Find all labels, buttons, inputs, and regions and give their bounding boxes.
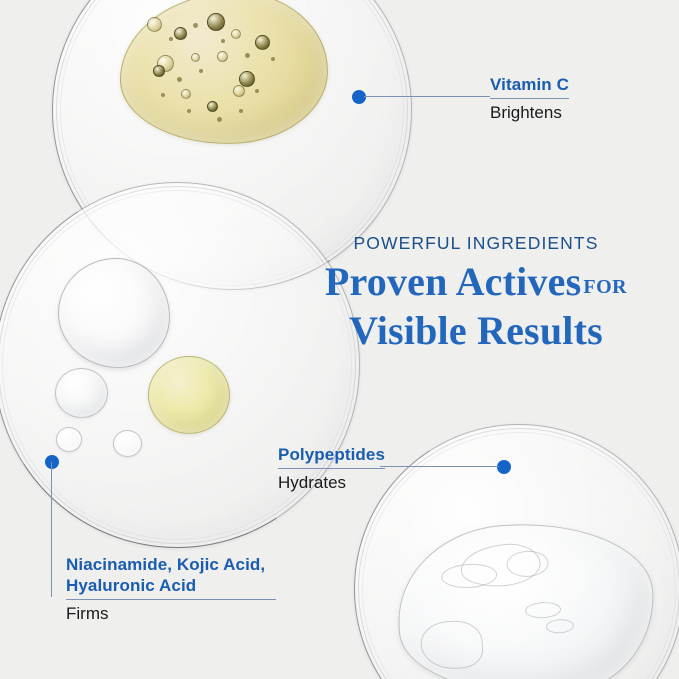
callout-subtitle-polypeptides: Hydrates xyxy=(278,472,385,494)
callout-line-polypeptides xyxy=(380,466,499,467)
callout-niacinamide[interactable]: Niacinamide, Kojic Acid, Hyaluronic Acid… xyxy=(66,554,276,625)
petri-dish-right xyxy=(354,424,679,679)
callout-line-vitamin-c xyxy=(364,96,490,97)
callout-subtitle-niacinamide: Firms xyxy=(66,603,276,625)
headline-line-1-text: Proven Actives xyxy=(325,259,581,304)
callout-dot-niacinamide[interactable] xyxy=(45,455,59,469)
callout-polypeptides[interactable]: Polypeptides Hydrates xyxy=(278,444,385,494)
ingredient-infographic: Vitamin C Brightens POWERFUL INGREDIENTS… xyxy=(0,0,679,679)
headline-for-word: FOR xyxy=(583,276,627,298)
callout-subtitle-vitamin-c: Brightens xyxy=(490,102,569,124)
headline-line-2: Visible Results xyxy=(306,309,646,353)
headline-eyebrow: POWERFUL INGREDIENTS xyxy=(306,232,646,254)
dish-shadow xyxy=(323,393,679,679)
callout-line-niacinamide xyxy=(51,462,52,597)
callout-underline xyxy=(66,599,276,600)
callout-dot-vitamin-c[interactable] xyxy=(352,90,366,104)
callout-vitamin-c[interactable]: Vitamin C Brightens xyxy=(490,74,569,124)
dish-inner-rim-secondary xyxy=(362,432,676,679)
callout-underline xyxy=(490,98,569,99)
callout-title-vitamin-c: Vitamin C xyxy=(490,74,569,95)
callout-underline xyxy=(278,468,385,469)
callout-dot-polypeptides[interactable] xyxy=(497,460,511,474)
callout-title-niacinamide: Niacinamide, Kojic Acid, Hyaluronic Acid xyxy=(66,554,276,596)
headline-block: POWERFUL INGREDIENTS Proven ActivesFOR V… xyxy=(306,232,646,353)
headline-line-1: Proven ActivesFOR xyxy=(306,260,646,309)
callout-title-polypeptides: Polypeptides xyxy=(278,444,385,465)
